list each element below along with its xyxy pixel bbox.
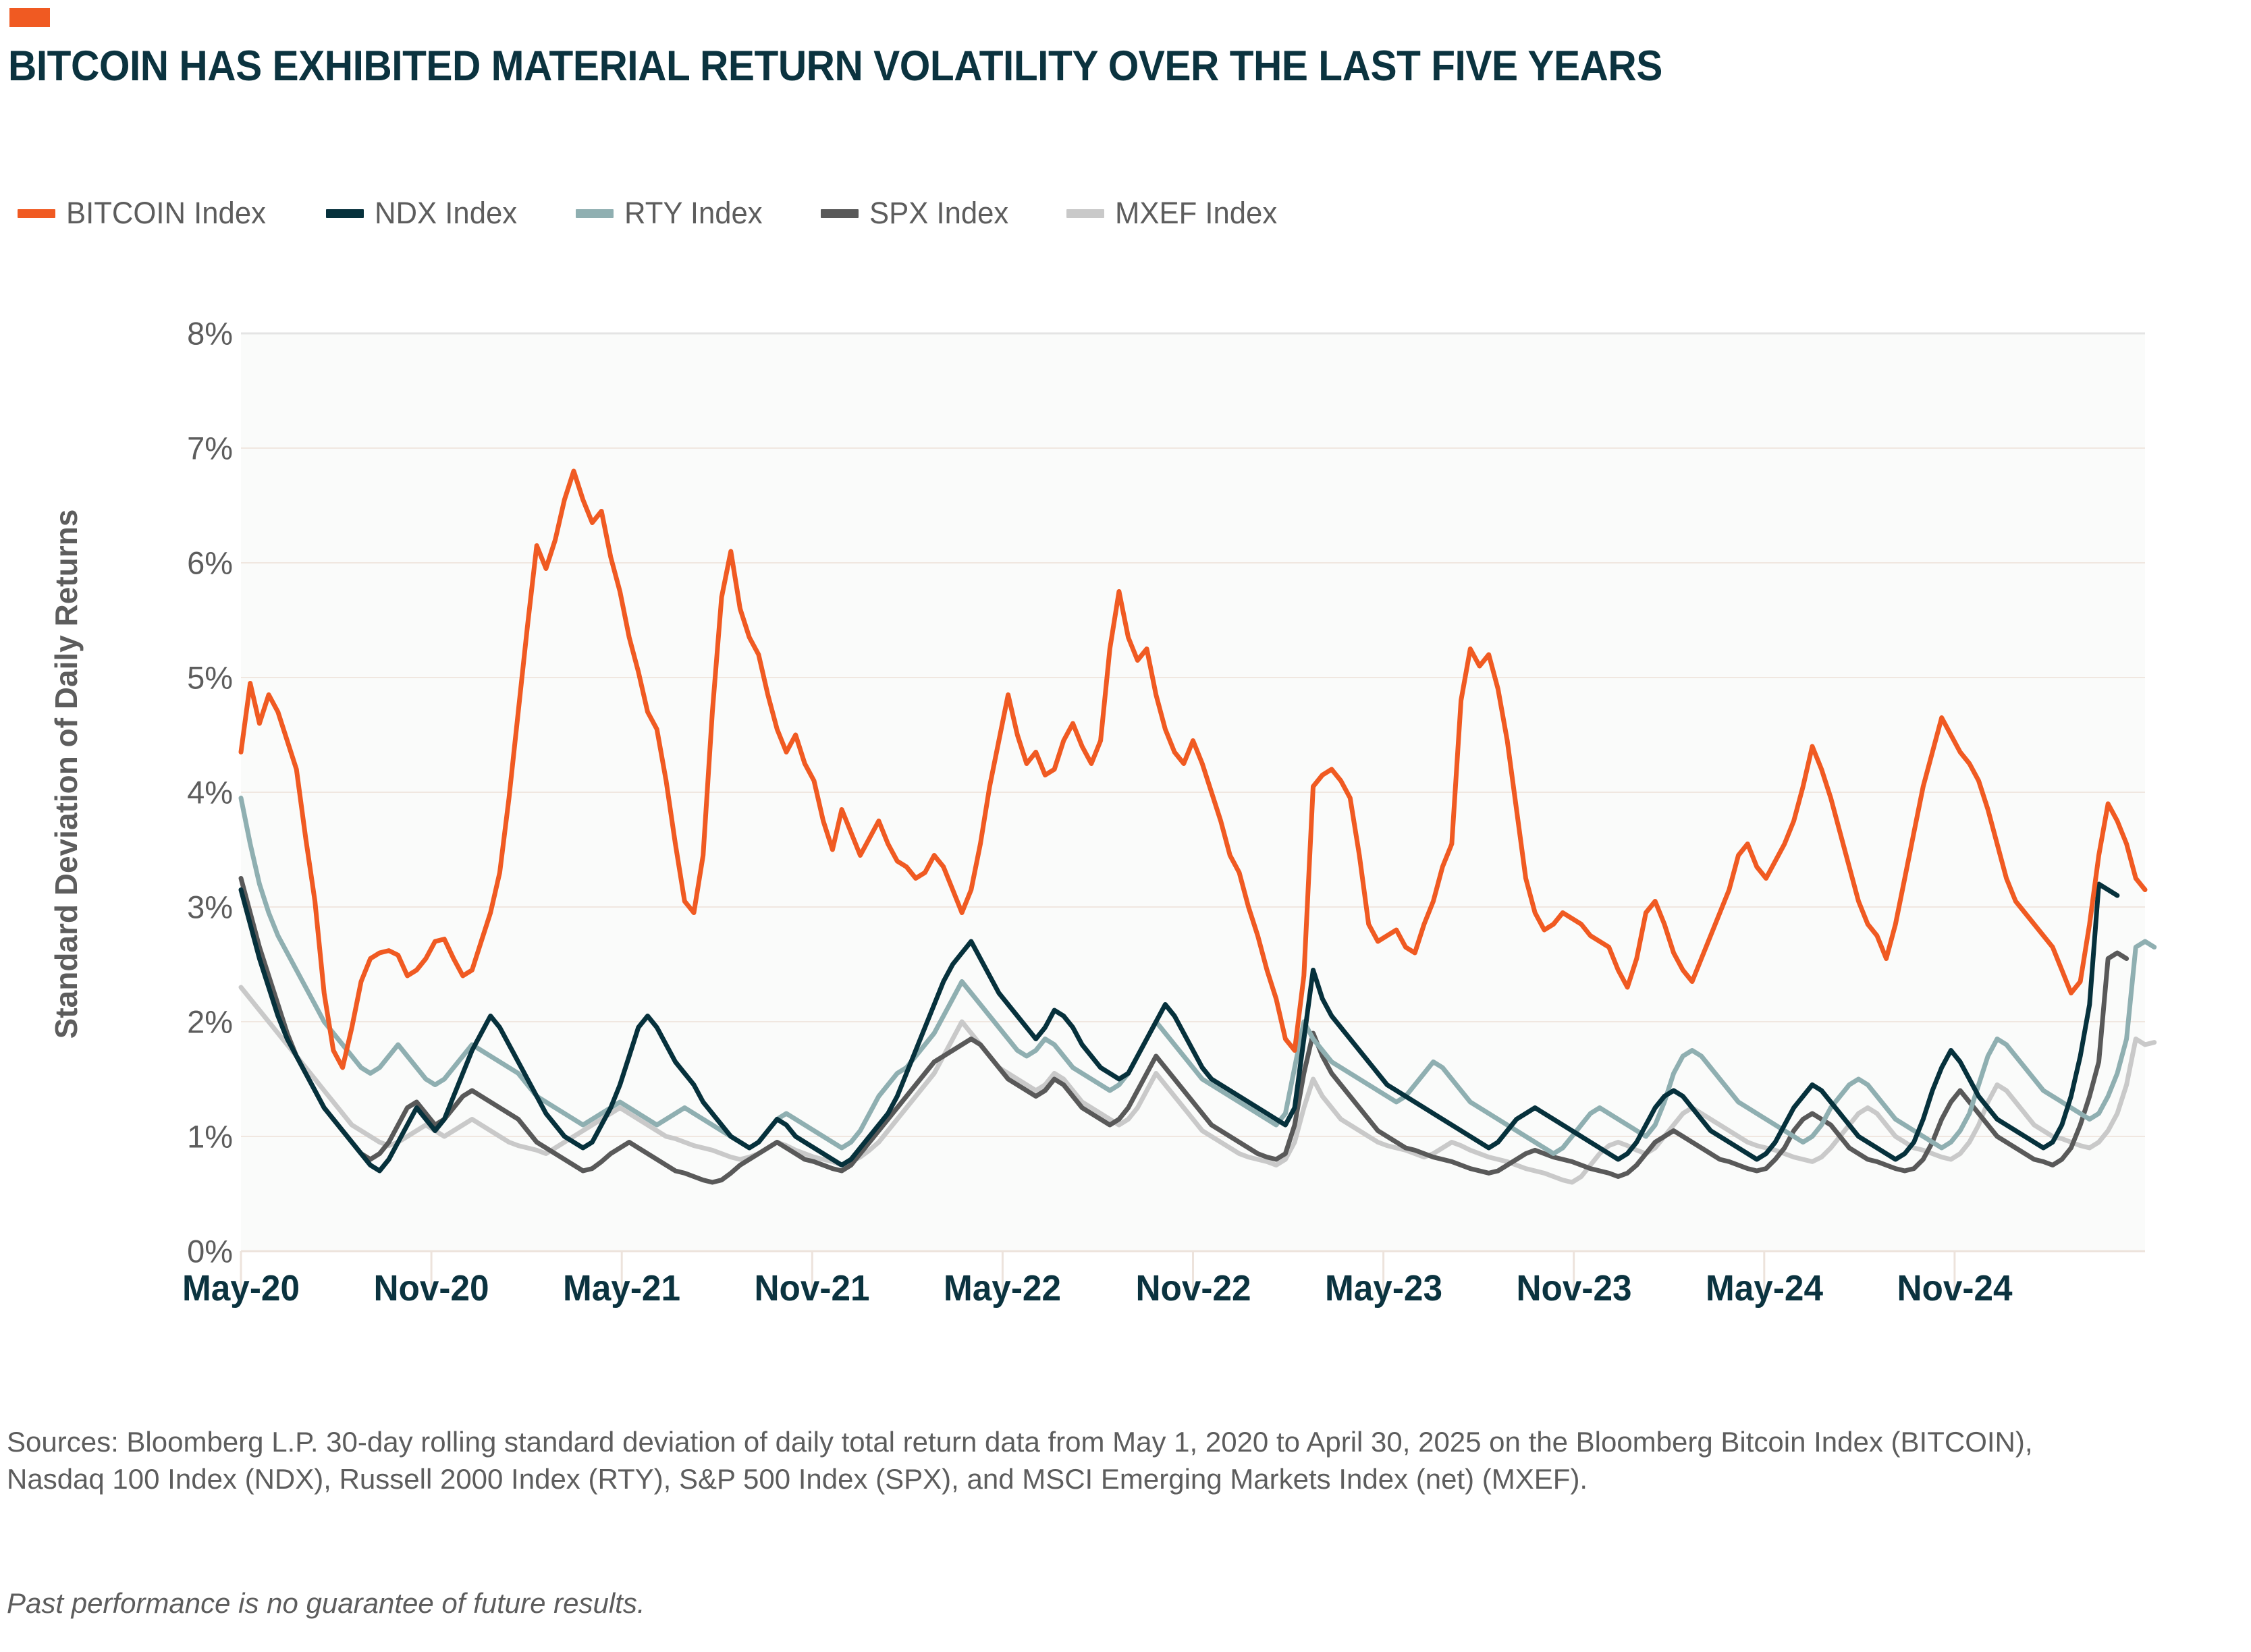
legend-swatch-icon [821,209,859,218]
x-tick-label: Nov-22 [1135,1267,1251,1309]
y-tick-label: 6% [64,545,233,582]
x-tick-label: May-20 [182,1267,300,1309]
y-tick-label: 3% [64,889,233,926]
page-title: BITCOIN HAS EXHIBITED MATERIAL RETURN VO… [8,42,1662,90]
y-tick-label: 0% [64,1233,233,1270]
legend-swatch-icon [1066,209,1104,218]
x-tick-label: Nov-24 [1897,1267,2012,1309]
source-notes: Sources: Bloomberg L.P. 30-day rolling s… [7,1424,2133,1497]
y-tick-label: 5% [64,659,233,696]
x-tick-label: Nov-23 [1516,1267,1631,1309]
legend-item-ndx[interactable]: NDX Index [326,196,522,231]
x-tick-label: May-21 [563,1267,680,1309]
x-tick-label: Nov-20 [374,1267,489,1309]
legend-item-label: BITCOIN Index [66,196,266,231]
y-tick-label: 7% [64,430,233,467]
legend-item-label: MXEF Index [1115,196,1277,231]
legend-item-mxef[interactable]: MXEF Index [1066,196,1282,231]
y-tick-label: 4% [64,774,233,811]
legend-item-spx[interactable]: SPX Index [821,196,1013,231]
x-tick-label: May-22 [944,1267,1061,1309]
legend-item-label: SPX Index [869,196,1008,231]
x-tick-label: Nov-21 [755,1267,870,1309]
x-tick-label: May-23 [1325,1267,1442,1309]
y-axis-ticks: 8%7%6%5%4%3%2%1%0% [64,283,233,1228]
chart-legend: BITCOIN IndexNDX IndexRTY IndexSPX Index… [18,196,1336,231]
y-tick-label: 1% [64,1118,233,1155]
legend-swatch-icon [576,209,614,218]
chart-container: Standard Deviation of Daily Returns 8%7%… [0,283,2251,1336]
legend-item-label: NDX Index [375,196,517,231]
legend-swatch-icon [18,209,55,218]
y-tick-label: 2% [64,1003,233,1041]
line-chart-plot [0,283,2251,1336]
legend-item-rty[interactable]: RTY Index [576,196,767,231]
y-tick-label: 8% [64,315,233,352]
disclaimer-text: Past performance is no guarantee of futu… [7,1587,645,1620]
accent-bar [9,8,50,27]
legend-item-label: RTY Index [624,196,763,231]
x-tick-label: May-24 [1706,1267,1823,1309]
legend-item-bitcoin[interactable]: BITCOIN Index [18,196,272,231]
legend-swatch-icon [326,209,364,218]
